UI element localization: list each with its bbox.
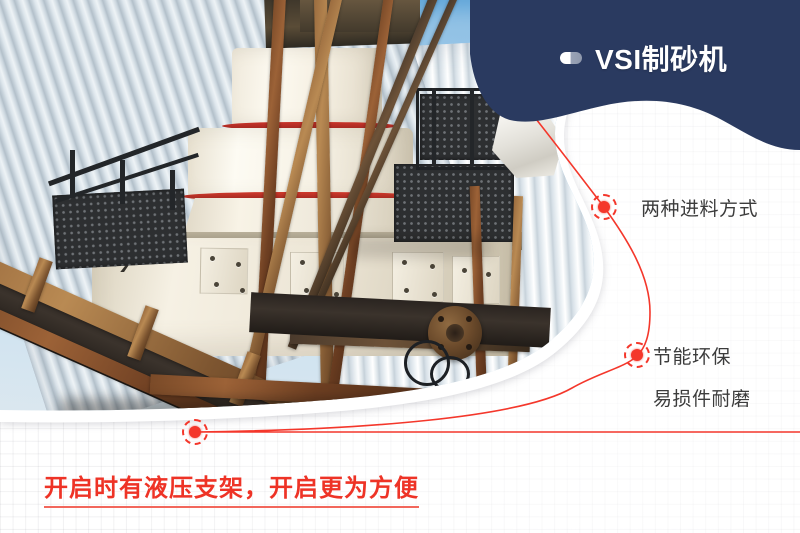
pill-bullet-icon xyxy=(560,52,582,64)
bolt xyxy=(240,288,245,293)
bottom-caption: 开启时有液压支架，开启更为方便 xyxy=(44,468,419,508)
rail-post xyxy=(170,170,175,210)
title-row: VSI制砂机 xyxy=(560,38,727,78)
rail-post xyxy=(70,150,75,198)
feature-label-eco: 节能环保 易损件耐磨 xyxy=(653,344,751,413)
bolt xyxy=(210,256,215,261)
bolt xyxy=(486,272,491,277)
feature-label-eco-line1: 节能环保 xyxy=(653,344,751,372)
bolt xyxy=(462,268,467,273)
red-dot-marker-icon-feed xyxy=(591,194,617,220)
marker-core xyxy=(598,201,610,213)
pulley-bolt xyxy=(438,316,444,322)
promo-banner: 7 xyxy=(0,0,800,533)
rail-post xyxy=(432,88,436,166)
bolt xyxy=(236,262,241,267)
pulley-bolt xyxy=(466,344,472,350)
bolt xyxy=(432,292,437,297)
rail-post xyxy=(120,160,125,204)
red-dot-marker-icon-caption xyxy=(182,419,208,445)
marker-core xyxy=(631,349,643,361)
marker-core xyxy=(189,426,201,438)
page-title: VSI制砂机 xyxy=(595,38,727,78)
red-dot-marker-icon-eco xyxy=(624,342,650,368)
bolt xyxy=(430,264,435,269)
feature-label-feed: 两种进料方式 xyxy=(641,196,758,224)
bolt xyxy=(404,288,409,293)
pulley-bolt xyxy=(466,316,472,322)
feature-label-eco-line2: 易损件耐磨 xyxy=(653,386,751,414)
bolt xyxy=(214,282,219,287)
machine-shadow xyxy=(350,236,490,258)
bolt xyxy=(300,260,305,265)
grating-platform-right xyxy=(394,164,514,242)
feature-label-feed-text: 两种进料方式 xyxy=(641,196,758,224)
bolt xyxy=(402,260,407,265)
